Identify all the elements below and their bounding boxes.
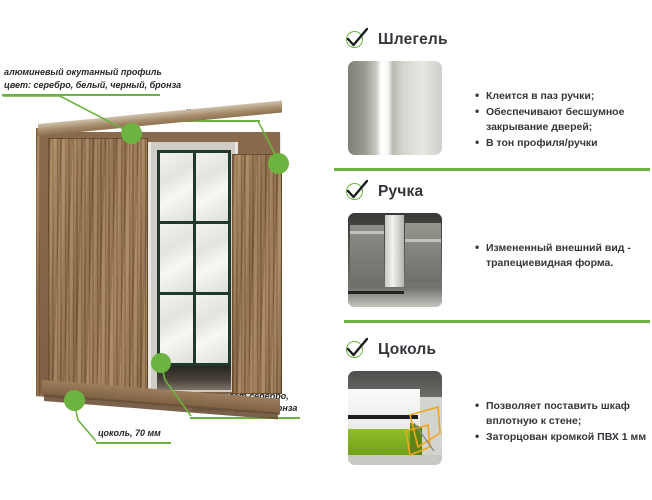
bullet-item: Клеится в паз ручки;: [486, 89, 624, 104]
feature-header: Цоколь: [330, 338, 652, 362]
callout-plinth-label: цоколь, 70 мм: [98, 427, 161, 439]
brush-strip: [379, 61, 390, 155]
mirror-pane: [196, 295, 229, 363]
feature-body: Позволяет поставить шкаф вплотную к стен…: [330, 371, 652, 465]
marker-dot-shlegel: [268, 153, 289, 174]
mirror-pane: [196, 153, 229, 221]
feature-card-handle: Ручка Измененный внешний вид - трапециев…: [330, 180, 652, 307]
feature-card-shlegel: Шлегель Клеится в паз ручки; Обеспечиваю…: [330, 28, 652, 155]
feature-thumbnail-plinth[interactable]: [348, 371, 442, 465]
callout-handles-underline: [190, 417, 300, 419]
callout-profile-line2: цвет: серебро, белый, черный, бронза: [4, 79, 181, 91]
mirror-pane: [196, 224, 229, 292]
bullet-item: Обеспечивают бесшумное закрывание дверей…: [486, 105, 624, 135]
infographic-page: алюминевый окутанный профиль цвет: сереб…: [0, 0, 652, 500]
feature-card-plinth: Цоколь Позволяет поста: [330, 338, 652, 465]
wardrobe-door-right: [232, 154, 282, 394]
marker-dot-handle: [151, 353, 171, 373]
features-panel: Шлегель Клеится в паз ручки; Обеспечиваю…: [330, 0, 652, 500]
feature-header: Ручка: [330, 180, 652, 204]
feature-header: Шлегель: [330, 28, 652, 52]
check-circle-icon: [344, 28, 368, 52]
check-circle-icon: [344, 180, 368, 204]
wardrobe-door-left: [48, 138, 148, 392]
bullet-item: Заторцован кромкой ПВХ 1 мм: [486, 430, 646, 445]
mirror-pane: [160, 224, 193, 292]
feature-thumbnail-handle[interactable]: [348, 213, 442, 307]
mirror-pane: [160, 153, 193, 221]
wardrobe-top-board: [38, 101, 282, 136]
feature-body: Клеится в паз ручки; Обеспечивают бесшум…: [330, 61, 652, 155]
callout-plinth-underline: [96, 442, 171, 444]
feature-bullet-list: Измененный внешний вид - трапециевидная …: [464, 241, 631, 272]
feature-title: Ручка: [378, 183, 423, 201]
bullet-item: Измененный внешний вид - трапециевидная …: [486, 241, 631, 271]
feature-title: Цоколь: [378, 341, 436, 359]
bullet-item: В тон профиля/ручки: [486, 136, 624, 151]
feature-bullet-list: Клеится в паз ручки; Обеспечивают бесшум…: [464, 89, 624, 152]
product-illustration-panel: алюминевый окутанный профиль цвет: сереб…: [0, 0, 330, 500]
callout-profile-underline: [2, 94, 160, 96]
marker-dot-profile: [121, 123, 142, 144]
bullet-item: Позволяет поставить шкаф вплотную к стен…: [486, 399, 646, 429]
feature-bullet-list: Позволяет поставить шкаф вплотную к стен…: [464, 399, 646, 446]
check-circle-icon: [344, 338, 368, 362]
feature-body: Измененный внешний вид - трапециевидная …: [330, 213, 652, 307]
section-divider: [344, 320, 650, 323]
mirror-frame: [157, 150, 231, 366]
feature-thumbnail-shlegel[interactable]: [348, 61, 442, 155]
section-divider: [334, 168, 650, 171]
callout-profile-line1: алюминевый окутанный профиль: [4, 66, 162, 78]
marker-dot-plinth: [64, 390, 85, 411]
mirror-pane-grid: [160, 153, 228, 363]
feature-title: Шлегель: [378, 31, 448, 49]
